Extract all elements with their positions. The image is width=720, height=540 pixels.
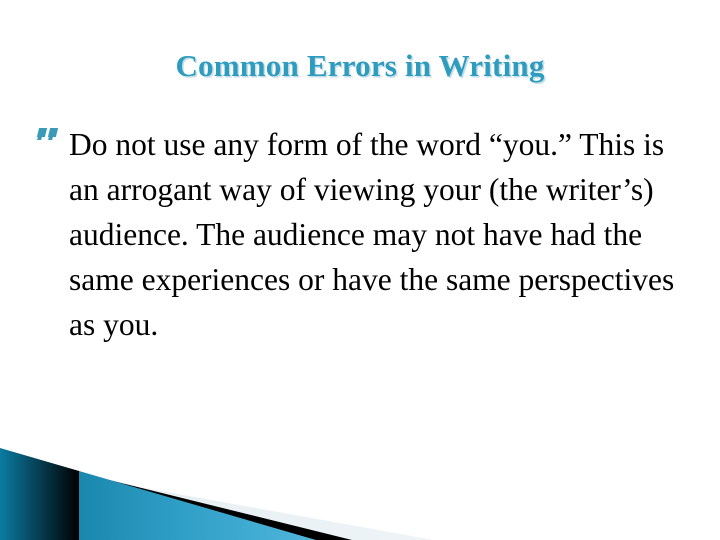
list-item: Do not use any form of the word “you.” T…	[34, 122, 694, 347]
body-content: Do not use any form of the word “you.” T…	[34, 122, 694, 347]
slide-canvas: Common Errors in Writing Do not use any …	[0, 0, 720, 540]
double-quote-bullet-icon	[38, 122, 64, 148]
black-wedge	[0, 453, 352, 540]
pale-blue-wedge	[0, 462, 434, 540]
bottom-corner-banner	[0, 420, 720, 540]
title-area: Common Errors in Writing	[0, 48, 720, 84]
teal-gradient-wedge	[0, 448, 316, 540]
page-title: Common Errors in Writing	[175, 48, 544, 84]
list-item-text: Do not use any form of the word “you.” T…	[69, 122, 694, 347]
